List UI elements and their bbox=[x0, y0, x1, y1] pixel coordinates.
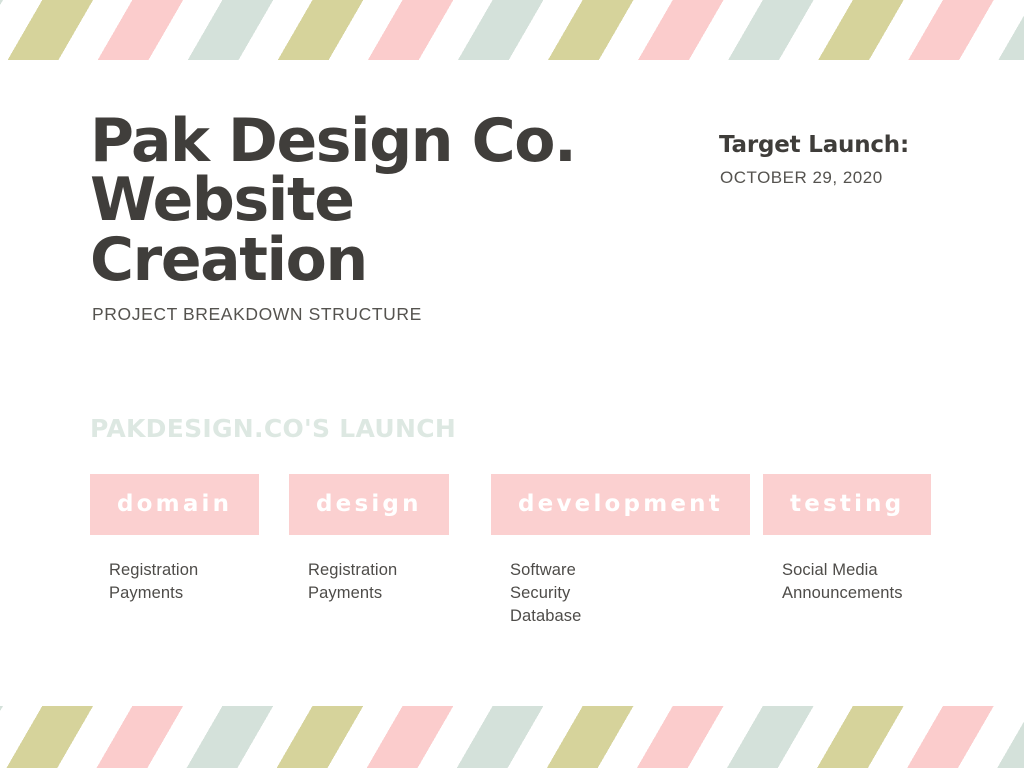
diagonal-stripe-band-bottom bbox=[0, 706, 1024, 768]
task-list-testing: Social Media Announcements bbox=[782, 559, 963, 605]
page-subtitle: PROJECT BREAKDOWN STRUCTURE bbox=[92, 304, 650, 325]
section-heading: PAKDESIGN.CO'S LAUNCH bbox=[90, 414, 456, 443]
breakdown-column-domain: domain Registration Payments bbox=[90, 474, 289, 605]
list-item: Announcements bbox=[782, 582, 963, 605]
title-block: Pak Design Co. Website Creation PROJECT … bbox=[90, 112, 650, 325]
target-launch-label: Target Launch: bbox=[719, 132, 999, 158]
breakdown-column-design: design Registration Payments bbox=[289, 474, 491, 605]
list-item: Payments bbox=[308, 582, 491, 605]
list-item: Database bbox=[510, 605, 763, 628]
project-breakdown: domain Registration Payments design Regi… bbox=[90, 474, 990, 628]
task-list-development: Software Security Database bbox=[510, 559, 763, 628]
phase-chip-development[interactable]: development bbox=[491, 474, 750, 535]
list-item: Registration bbox=[308, 559, 491, 582]
stripe-pattern-icon bbox=[0, 706, 1024, 768]
list-item: Security bbox=[510, 582, 763, 605]
breakdown-column-testing: testing Social Media Announcements bbox=[763, 474, 963, 605]
list-item: Registration bbox=[109, 559, 289, 582]
target-launch-block: Target Launch: OCTOBER 29, 2020 bbox=[719, 132, 999, 188]
list-item: Payments bbox=[109, 582, 289, 605]
page-title: Pak Design Co. Website Creation bbox=[90, 112, 650, 290]
task-list-domain: Registration Payments bbox=[109, 559, 289, 605]
stripe-pattern-icon bbox=[0, 0, 1024, 60]
diagonal-stripe-band-top bbox=[0, 0, 1024, 60]
list-item: Social Media bbox=[782, 559, 963, 582]
phase-chip-design[interactable]: design bbox=[289, 474, 449, 535]
breakdown-column-development: development Software Security Database bbox=[491, 474, 763, 628]
phase-chip-testing[interactable]: testing bbox=[763, 474, 931, 535]
list-item: Software bbox=[510, 559, 763, 582]
task-list-design: Registration Payments bbox=[308, 559, 491, 605]
slide-canvas: Pak Design Co. Website Creation PROJECT … bbox=[0, 0, 1024, 768]
target-launch-date: OCTOBER 29, 2020 bbox=[720, 168, 999, 188]
phase-chip-domain[interactable]: domain bbox=[90, 474, 259, 535]
